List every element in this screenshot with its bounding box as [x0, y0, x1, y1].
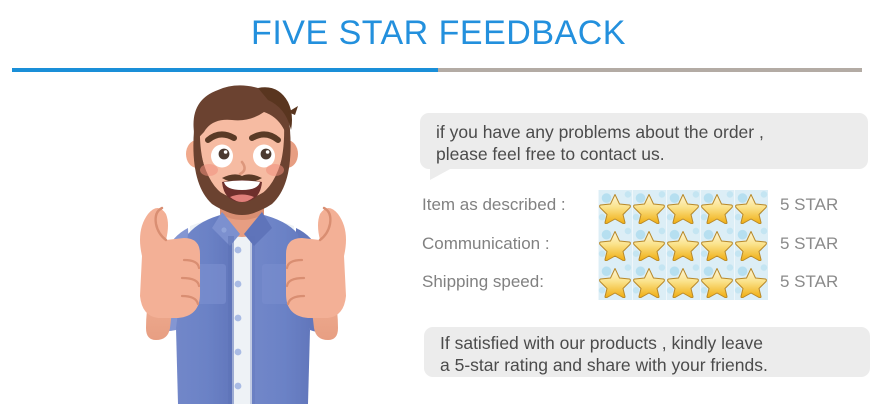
header-divider [12, 68, 862, 72]
star-icon-cell [700, 227, 734, 264]
illustration-thumbs-up-man [72, 78, 412, 404]
leave-rating-message-bubble: If satisfied with our products , kindly … [424, 327, 870, 377]
star-icon-cell [734, 227, 768, 264]
ratings-table: Item as described : Communication : Ship… [418, 186, 870, 302]
star-icon-cell [598, 190, 632, 227]
star-rating-grid [598, 190, 768, 300]
star-icon-cell [666, 227, 700, 264]
contact-message-bubble: if you have any problems about the order… [420, 113, 868, 169]
leave-rating-line-1: If satisfied with our products , kindly … [440, 332, 856, 354]
leave-rating-line-2: a 5-star rating and share with your frie… [440, 354, 856, 376]
star-icon-cell [734, 263, 768, 300]
star-icon-cell [700, 190, 734, 227]
rating-value-shipping-speed: 5 STAR [780, 263, 870, 302]
rating-value-item-as-described: 5 STAR [780, 186, 870, 225]
bubble-tail [430, 168, 452, 180]
star-icon-cell [666, 190, 700, 227]
ratings-label-column: Item as described : Communication : Ship… [422, 186, 598, 302]
star-icon-cell [598, 263, 632, 300]
star-icon-cell [666, 263, 700, 300]
divider-segment-blue [12, 68, 438, 72]
star-icon-cell [598, 227, 632, 264]
rating-label-communication: Communication : [422, 225, 598, 264]
divider-segment-tan [438, 68, 862, 72]
page-title: FIVE STAR FEEDBACK [0, 14, 877, 53]
rating-label-shipping-speed: Shipping speed: [422, 263, 598, 302]
contact-message-line-1: if you have any problems about the order… [436, 121, 854, 143]
star-icon-cell [632, 190, 666, 227]
star-icon-cell [700, 263, 734, 300]
rating-label-item-as-described: Item as described : [422, 186, 598, 225]
ratings-value-column: 5 STAR 5 STAR 5 STAR [780, 186, 870, 302]
contact-message-line-2: please feel free to contact us. [436, 143, 854, 165]
star-icon-cell [632, 263, 666, 300]
feedback-banner: FIVE STAR FEEDBACK [0, 0, 877, 407]
rating-value-communication: 5 STAR [780, 225, 870, 264]
star-icon-cell [734, 190, 768, 227]
star-icon-cell [632, 227, 666, 264]
feedback-content: if you have any problems about the order… [418, 108, 870, 388]
